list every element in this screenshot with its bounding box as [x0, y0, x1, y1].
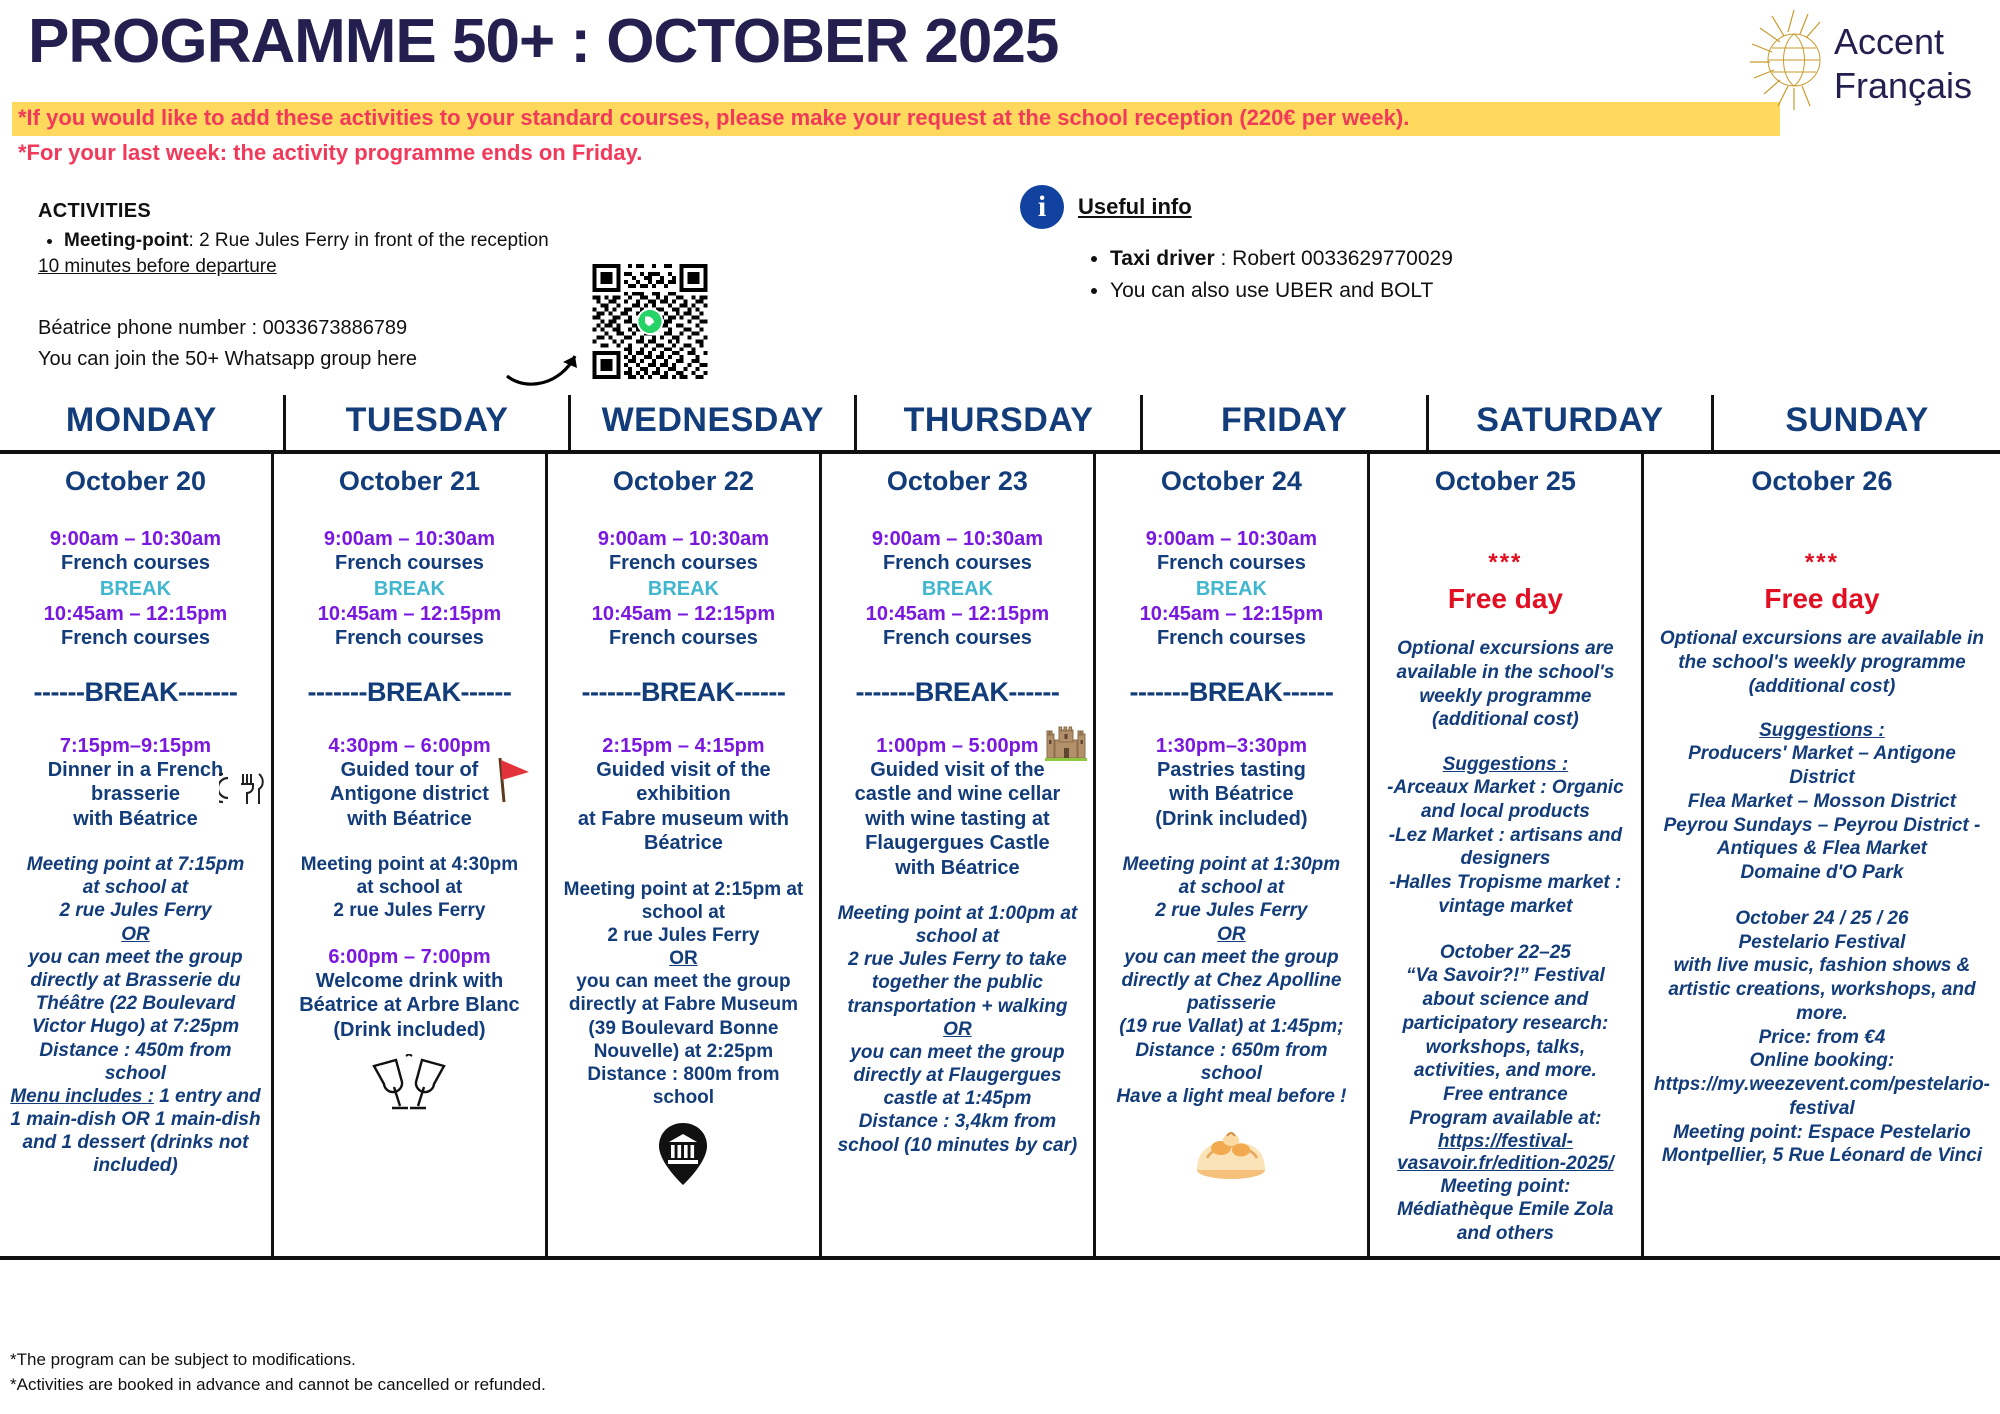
- slot1-activity: French courses: [1106, 551, 1357, 575]
- day-header-monday: MONDAY: [0, 395, 286, 450]
- page-title: PROGRAMME 50+ : OCTOBER 2025: [28, 6, 1058, 77]
- stars-marker: ***: [1654, 549, 1990, 577]
- or-separator: OR: [1106, 923, 1357, 946]
- free-day-note: Optional excursions are available in the…: [1380, 637, 1631, 732]
- lunch-break-divider: ------BREAK-------: [10, 677, 261, 708]
- slot1-activity: French courses: [10, 551, 261, 575]
- event-link[interactable]: https://my.weezevent.com/pestelario-fest…: [1654, 1073, 1990, 1121]
- logo-line-1: Accent: [1834, 21, 1944, 62]
- day-header-wednesday: WEDNESDAY: [571, 395, 857, 450]
- list-item: You can also use UBER and BOLT: [1110, 275, 1720, 307]
- slot2-activity: French courses: [284, 626, 535, 650]
- slot2-activity: French courses: [558, 626, 809, 650]
- morning-break-label: BREAK: [284, 576, 535, 602]
- slot2-activity: French courses: [10, 626, 261, 650]
- calendar-columns: October 20 9:00am – 10:30am French cours…: [0, 454, 2000, 1260]
- cutlery-plate-icon: [219, 768, 267, 814]
- slot1-time: 9:00am – 10:30am: [832, 527, 1083, 551]
- lunch-break-divider: -------BREAK------: [558, 677, 809, 708]
- whatsapp-qr-code[interactable]: [580, 264, 720, 379]
- afternoon-activity-2: Welcome drink with Béatrice at Arbre Bla…: [284, 969, 535, 1042]
- slot2-time: 10:45am – 12:15pm: [10, 602, 261, 626]
- menu-info: Menu includes : 1 entry and 1 main-dish …: [10, 1085, 261, 1178]
- day-header-saturday: SATURDAY: [1429, 395, 1715, 450]
- ride-apps-text: You can also use UBER and BOLT: [1110, 279, 1433, 302]
- meeting-info: Meeting point at 1:30pm at school at 2 r…: [1106, 853, 1357, 923]
- day-header-thursday: THURSDAY: [857, 395, 1143, 450]
- day-column-friday: October 24 9:00am – 10:30am French cours…: [1096, 454, 1370, 1256]
- lunch-break-divider: -------BREAK------: [284, 677, 535, 708]
- meeting-info: Meeting point at 4:30pm at school at 2 r…: [284, 853, 535, 923]
- taxi-driver-label: Taxi driver: [1110, 247, 1215, 270]
- meeting-info: Meeting point at 7:15pm at school at 2 r…: [10, 853, 261, 923]
- suggestions-text: -Arceaux Market : Organic and local prod…: [1380, 776, 1631, 919]
- list-item: Taxi driver : Robert 0033629770029: [1110, 243, 1720, 275]
- or-separator: OR: [558, 947, 809, 970]
- day-header-friday: FRIDAY: [1143, 395, 1429, 450]
- slot2-time: 10:45am – 12:15pm: [832, 602, 1083, 626]
- programme-poster: PROGRAMME 50+ : OCTOBER 2025 *If you wou…: [0, 0, 2000, 1414]
- event-meeting-point: Meeting point: Espace Pestelario Montpel…: [1654, 1121, 1990, 1169]
- morning-break-label: BREAK: [558, 576, 809, 602]
- weekly-calendar: MONDAY TUESDAY WEDNESDAY THURSDAY FRIDAY…: [0, 395, 2000, 1260]
- phone-line: Béatrice phone number : 0033673886789: [38, 313, 558, 344]
- meeting-alt-info: you can meet the group directly at Fabre…: [558, 970, 809, 1109]
- date-label: October 20: [10, 466, 261, 497]
- lunch-break-divider: -------BREAK------: [1106, 677, 1357, 708]
- event-meeting-point: Meeting point: Médiathèque Emile Zola an…: [1380, 1175, 1631, 1246]
- stars-marker: ***: [1380, 549, 1631, 577]
- useful-info-title: Useful info: [1078, 194, 1192, 220]
- pastry-icon: [1106, 1120, 1357, 1187]
- slot2-activity: French courses: [832, 626, 1083, 650]
- footer-notes: *The program can be subject to modificat…: [10, 1348, 546, 1397]
- whatsapp-line: You can join the 50+ Whatsapp group here: [38, 344, 558, 375]
- afternoon-time: 2:15pm – 4:15pm: [558, 734, 809, 758]
- slot1-activity: French courses: [832, 551, 1083, 575]
- meeting-point-label: Meeting-point: [64, 230, 189, 251]
- slot1-time: 9:00am – 10:30am: [284, 527, 535, 551]
- slot2-time: 10:45am – 12:15pm: [558, 602, 809, 626]
- castle-icon: [1045, 724, 1087, 768]
- slot1-activity: French courses: [284, 551, 535, 575]
- afternoon-activity: Guided tour of Antigone district with Bé…: [284, 758, 535, 831]
- day-column-sunday: October 26 *** Free day Optional excursi…: [1644, 454, 2000, 1256]
- meeting-point-text: : 2 Rue Jules Ferry in front of the rece…: [189, 230, 549, 251]
- ten-minutes-note: 10 minutes before departure: [38, 254, 598, 280]
- museum-pin-icon: [558, 1121, 809, 1192]
- date-label: October 21: [284, 466, 535, 497]
- last-week-note: *For your last week: the activity progra…: [18, 140, 642, 166]
- curved-arrow-icon: [505, 340, 585, 390]
- slot1-time: 9:00am – 10:30am: [1106, 527, 1357, 551]
- date-label: October 24: [1106, 466, 1357, 497]
- afternoon-activity: Guided visit of the exhibition at Fabre …: [558, 758, 809, 856]
- slot1-time: 9:00am – 10:30am: [558, 527, 809, 551]
- day-column-thursday: October 23 9:00am – 10:30am French cours…: [822, 454, 1096, 1256]
- meeting-point-item: Meeting-point: 2 Rue Jules Ferry in fron…: [64, 228, 598, 254]
- morning-break-label: BREAK: [10, 576, 261, 602]
- suggestions-label: Suggestions :: [1654, 720, 1990, 742]
- day-header-sunday: SUNDAY: [1714, 395, 2000, 450]
- slot1-time: 9:00am – 10:30am: [10, 527, 261, 551]
- contact-block: Béatrice phone number : 0033673886789 Yo…: [38, 313, 558, 375]
- suggestions-text: Producers' Market – Antigone District Fl…: [1654, 742, 1990, 885]
- meeting-alt-info: you can meet the group directly at Flaug…: [832, 1041, 1083, 1157]
- day-column-monday: October 20 9:00am – 10:30am French cours…: [0, 454, 274, 1256]
- slot2-time: 10:45am – 12:15pm: [1106, 602, 1357, 626]
- morning-break-label: BREAK: [1106, 576, 1357, 602]
- slot2-time: 10:45am – 12:15pm: [284, 602, 535, 626]
- date-label: October 26: [1654, 466, 1990, 497]
- info-icon: i: [1020, 185, 1064, 229]
- activities-list: Meeting-point: 2 Rue Jules Ferry in fron…: [38, 228, 598, 254]
- cheers-glasses-icon: [284, 1054, 535, 1121]
- afternoon-activity: Guided visit of the castle and wine cell…: [832, 758, 1083, 880]
- day-column-tuesday: October 21 9:00am – 10:30am French cours…: [274, 454, 548, 1256]
- afternoon-activity: Pastries tasting with Béatrice (Drink in…: [1106, 758, 1357, 831]
- meeting-alt-info: you can meet the group directly at Brass…: [10, 946, 261, 1085]
- afternoon-time: 7:15pm–9:15pm: [10, 734, 261, 758]
- afternoon-activity: Dinner in a French brasserie with Béatri…: [10, 758, 261, 831]
- calendar-day-headers: MONDAY TUESDAY WEDNESDAY THURSDAY FRIDAY…: [0, 395, 2000, 454]
- useful-info-header: i Useful info: [1020, 185, 1720, 229]
- free-day-note: Optional excursions are available in the…: [1654, 627, 1990, 698]
- date-label: October 25: [1380, 466, 1631, 497]
- footer-line-1: *The program can be subject to modificat…: [10, 1348, 546, 1373]
- event-details: October 22–25 “Va Savoir?!” Festival abo…: [1380, 941, 1631, 1131]
- date-label: October 23: [832, 466, 1083, 497]
- afternoon-time: 1:00pm – 5:00pm: [832, 734, 1083, 758]
- activities-block: ACTIVITIES Meeting-point: 2 Rue Jules Fe…: [38, 198, 598, 280]
- lunch-break-divider: -------BREAK------: [832, 677, 1083, 708]
- highlight-banner: *If you would like to add these activiti…: [12, 102, 1780, 136]
- or-separator: OR: [832, 1018, 1083, 1041]
- event-details: October 24 / 25 / 26 Pestelario Festival…: [1654, 907, 1990, 1073]
- day-header-tuesday: TUESDAY: [286, 395, 572, 450]
- accent-francais-logo: Accent Français: [1742, 6, 1982, 114]
- activities-heading: ACTIVITIES: [38, 198, 598, 226]
- afternoon-time: 1:30pm–3:30pm: [1106, 734, 1357, 758]
- day-column-saturday: October 25 *** Free day Optional excursi…: [1370, 454, 1644, 1256]
- date-label: October 22: [558, 466, 809, 497]
- meeting-info: Meeting point at 1:00pm at school at 2 r…: [832, 902, 1083, 1018]
- footer-line-2: *Activities are booked in advance and ca…: [10, 1373, 546, 1398]
- useful-info-block: i Useful info Taxi driver : Robert 00336…: [1020, 185, 1720, 306]
- slot1-activity: French courses: [558, 551, 809, 575]
- logo-line-2: Français: [1834, 65, 1972, 106]
- morning-break-label: BREAK: [832, 576, 1083, 602]
- suggestions-label: Suggestions :: [1380, 754, 1631, 776]
- event-link[interactable]: https://festival-vasavoir.fr/edition-202…: [1380, 1131, 1631, 1175]
- free-day-label: Free day: [1654, 583, 1990, 615]
- free-day-label: Free day: [1380, 583, 1631, 615]
- or-separator: OR: [10, 923, 261, 946]
- meeting-info: Meeting point at 2:15pm at school at 2 r…: [558, 878, 809, 948]
- useful-info-list: Taxi driver : Robert 0033629770029 You c…: [1020, 243, 1720, 306]
- red-flag-icon: [493, 752, 533, 812]
- slot2-activity: French courses: [1106, 626, 1357, 650]
- day-column-wednesday: October 22 9:00am – 10:30am French cours…: [548, 454, 822, 1256]
- meeting-alt-info: you can meet the group directly at Chez …: [1106, 946, 1357, 1108]
- taxi-driver-text: : Robert 0033629770029: [1215, 247, 1453, 270]
- afternoon-time-2: 6:00pm – 7:00pm: [284, 945, 535, 969]
